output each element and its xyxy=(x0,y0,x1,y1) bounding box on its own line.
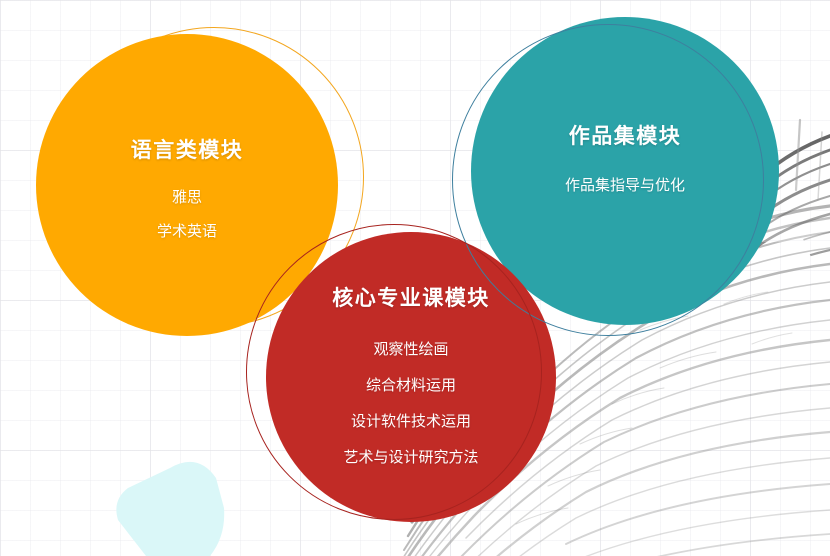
bubble-language-title: 语言类模块 xyxy=(131,134,244,164)
bubble-language-item-1: 学术英语 xyxy=(157,220,217,241)
slide-canvas: 语言类模块 雅思 学术英语 作品集模块 作品集指导与优化 核心专业课模块 观察性… xyxy=(0,0,830,556)
ring-outline-core xyxy=(246,224,542,520)
bubble-language-item-0: 雅思 xyxy=(172,186,202,207)
